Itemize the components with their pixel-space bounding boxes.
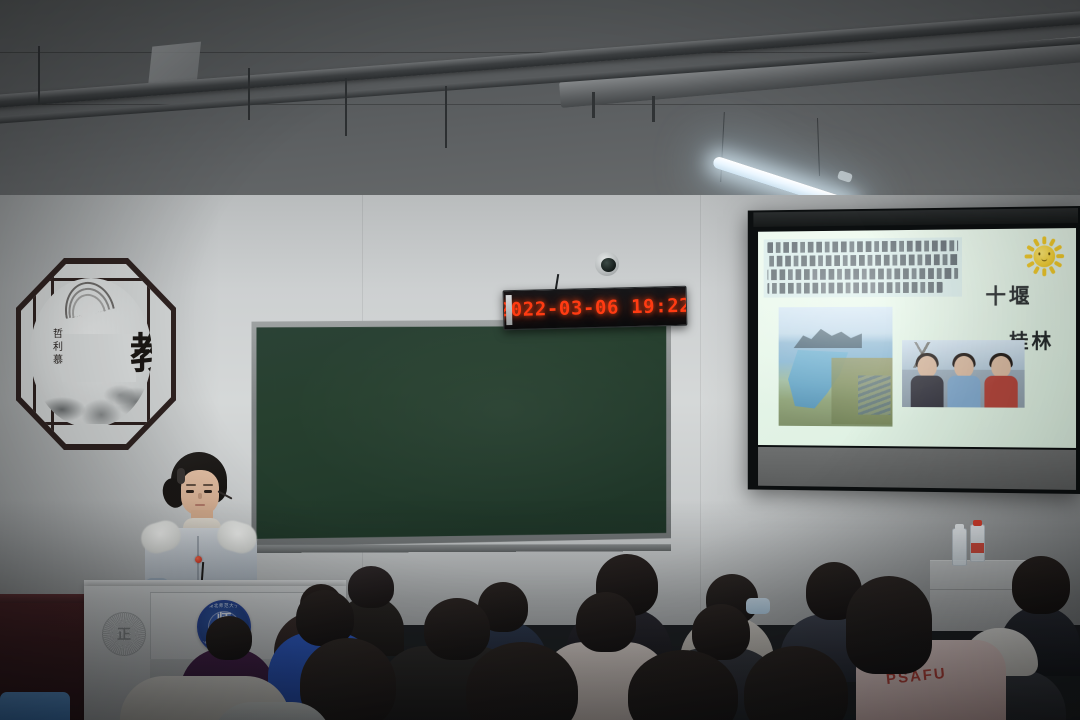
ceiling-drop-rod [38,46,40,104]
classroom-presentation-scene: 哲利慕 教 2022-03-06 19:22 [0,0,1080,720]
projected-image-area: 十堰 桂林 [758,228,1076,448]
river-mountain-landscape-photo [779,307,893,427]
audience-head [206,616,252,660]
slide-handwritten-paragraph [764,237,962,297]
audience-head [846,576,932,674]
audience-head [576,592,636,652]
led-clock-left-marker [506,295,513,325]
auditorium-chair[interactable] [0,692,70,720]
octagonal-wall-art: 哲利慕 教 [16,258,176,450]
ceiling-hanger-rod [592,92,595,118]
art-calligraphy-character: 教 [130,334,152,376]
sun-doodle-icon [1025,236,1065,276]
ceiling-hanger-rod [652,96,655,122]
presentation-slide: 十堰 桂林 [758,228,1076,448]
led-clock-text: 2022-03-06 19:22 [503,295,688,322]
dome-surveillance-camera-icon [595,252,619,276]
slide-label-shiyan: 十堰 [985,280,1032,310]
screen-top-rail [753,208,1078,227]
projection-screen: 十堰 桂林 [748,206,1080,494]
headset-mic-band [177,468,185,484]
art-side-inscription: 哲利慕 [52,328,64,367]
group-selfie-photo [902,340,1025,408]
audience-head [348,566,394,608]
ceiling-drop-rod [445,86,447,148]
face-mask [746,598,770,614]
ceiling-drop-rod [248,68,250,120]
ink-landscape-painting: 哲利慕 教 [30,278,152,428]
audience-head [300,638,396,720]
audience-head [1012,556,1070,614]
blackboard-surface[interactable] [256,324,666,539]
art-paper-overlay [62,334,136,382]
blackboard[interactable] [251,317,671,547]
led-clock-display: 2022-03-06 19:22 [503,286,688,330]
ceiling-drop-rod [345,78,347,136]
audience-head [424,598,490,660]
screen-bottom-bar [758,447,1076,490]
seated-audience: PSÅFU [0,520,1080,720]
